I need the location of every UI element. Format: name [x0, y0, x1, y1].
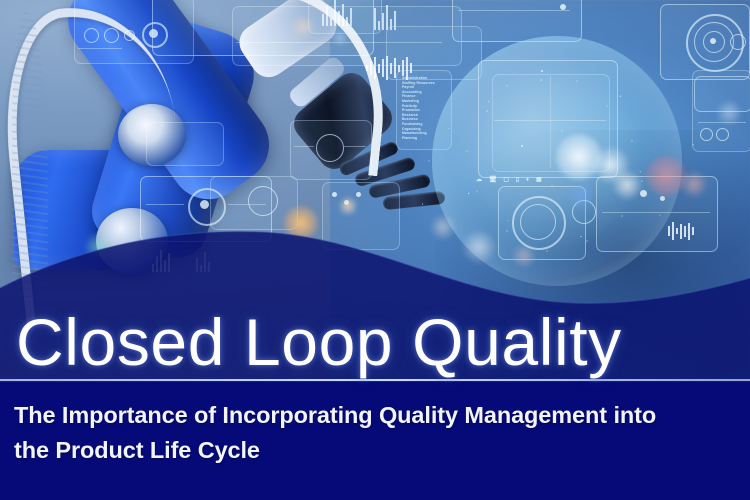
page-title: Closed Loop Quality	[16, 303, 622, 381]
page-subtitle: The Importance of Incorporating Quality …	[14, 398, 750, 468]
subtitle-line-2: the Product Life Cycle	[14, 433, 750, 468]
subtitle-line-1: The Importance of Incorporating Quality …	[14, 398, 750, 433]
closed-loop-quality-banner: AdministrationStaffing ResourcesPayrollA…	[0, 0, 750, 500]
